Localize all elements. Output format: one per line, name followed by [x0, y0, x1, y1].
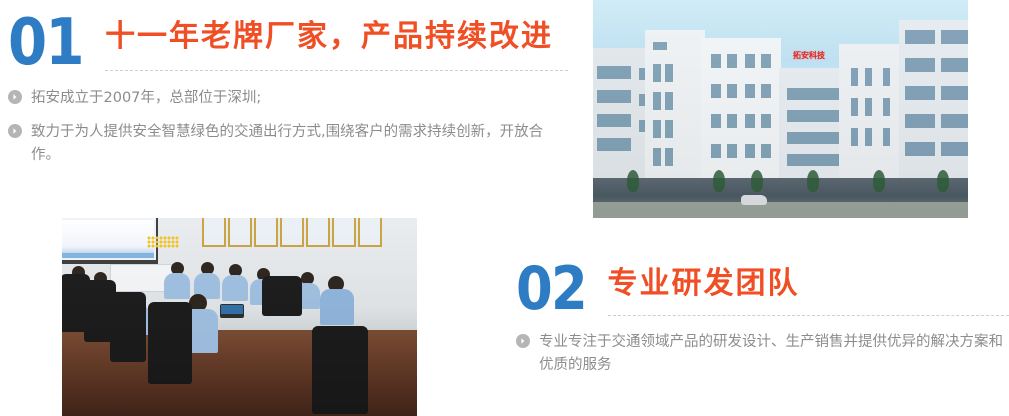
- section-02-title-wrap: 专业研发团队: [596, 262, 1009, 316]
- building-block-2: [645, 30, 705, 180]
- building-block-right: [899, 20, 968, 180]
- tree: [751, 170, 763, 192]
- building-block-4: [839, 44, 907, 180]
- company-building-photo: 拓安科技: [593, 0, 968, 218]
- chair: [262, 276, 302, 316]
- certificate-frame: [228, 218, 252, 247]
- certificate-frames: [202, 218, 412, 246]
- tree: [873, 170, 885, 192]
- chair: [110, 292, 146, 362]
- certificate-frame: [358, 218, 382, 247]
- parked-car: [741, 195, 767, 205]
- section-02-header: 02 专业研发团队: [516, 262, 1009, 317]
- projector-screen: [62, 218, 158, 264]
- tree: [713, 170, 725, 192]
- certificate-frame: [254, 218, 278, 247]
- screen-taskbar: [62, 253, 154, 258]
- laptop: [220, 304, 244, 318]
- section-01-bullet-text: 拓安成立于2007年，总部位于深圳;: [31, 87, 261, 109]
- tree: [937, 170, 949, 192]
- list-item: 致力于为人提供安全智慧绿色的交通出行方式,围绕客户的需求持续创新，开放合作。: [8, 121, 568, 166]
- section-01-header: 01 十一年老牌厂家，产品持续改进: [8, 14, 568, 73]
- decorative-dots: [147, 236, 179, 248]
- section-02-bullet-text: 专业专注于交通领域产品的研发设计、生产销售并提供优异的解决方案和优质的服务: [539, 331, 1009, 377]
- list-item: 专业专注于交通领域产品的研发设计、生产销售并提供优异的解决方案和优质的服务: [516, 331, 1009, 377]
- section-01-title-wrap: 十一年老牌厂家，产品持续改进: [93, 14, 568, 71]
- chevron-right-circle-icon: [516, 334, 530, 348]
- tree: [627, 170, 639, 192]
- section-02-number: 02: [516, 262, 586, 317]
- team-meeting-photo: [62, 218, 417, 416]
- certificate-frame: [306, 218, 330, 247]
- list-item: 拓安成立于2007年，总部位于深圳;: [8, 87, 568, 109]
- promo-banner: 01 十一年老牌厂家，产品持续改进 拓安成立于2007年，总部位于深圳; 致力于…: [0, 0, 1009, 416]
- section-02-title: 专业研发团队: [608, 269, 1009, 299]
- certificate-frame: [202, 218, 226, 247]
- chevron-right-circle-icon: [8, 90, 22, 104]
- road: [593, 202, 968, 218]
- chevron-right-circle-icon: [8, 124, 22, 138]
- section-01-divider: [105, 70, 568, 71]
- section-01: 01 十一年老牌厂家，产品持续改进 拓安成立于2007年，总部位于深圳; 致力于…: [8, 14, 568, 178]
- section-01-bullets: 拓安成立于2007年，总部位于深圳; 致力于为人提供安全智慧绿色的交通出行方式,…: [8, 87, 568, 166]
- section-01-title: 十一年老牌厂家，产品持续改进: [105, 22, 568, 52]
- building-block-center: [701, 38, 781, 180]
- section-02-divider: [608, 315, 1009, 316]
- chair: [148, 302, 192, 384]
- tree: [807, 170, 819, 192]
- section-02: 02 专业研发团队 专业专注于交通领域产品的研发设计、生产销售并提供优异的解决方…: [516, 262, 1009, 390]
- certificate-frame: [332, 218, 356, 247]
- certificate-frame: [280, 218, 304, 247]
- building-sign-text: 拓安科技: [793, 50, 825, 61]
- section-01-number: 01: [8, 14, 83, 73]
- section-02-bullets: 专业专注于交通领域产品的研发设计、生产销售并提供优异的解决方案和优质的服务: [516, 331, 1009, 377]
- section-01-bullet-text: 致力于为人提供安全智慧绿色的交通出行方式,围绕客户的需求持续创新，开放合作。: [31, 121, 568, 166]
- chair: [312, 326, 368, 414]
